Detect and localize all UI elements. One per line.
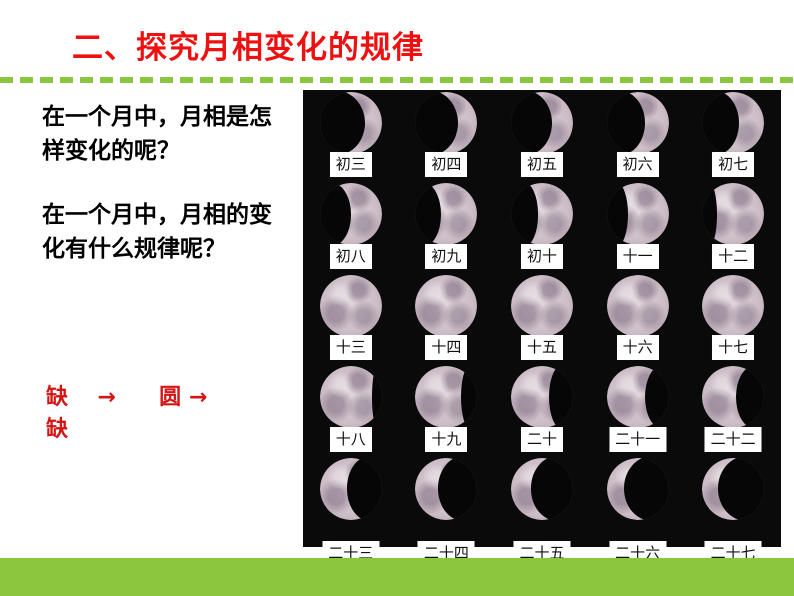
moon-image: [607, 275, 669, 337]
dashed-divider: [0, 77, 794, 83]
moon-phase-cell: 十六: [590, 273, 686, 364]
moon-phase-label: 十一: [617, 244, 659, 269]
moon-phase-label: 二十一: [609, 427, 666, 452]
moon-shadow: [624, 458, 669, 520]
moon-phase-label: 初九: [425, 244, 467, 269]
moon-image: [320, 92, 382, 154]
moon-phase-cell: 二十七: [685, 456, 781, 547]
moon-shadow: [718, 458, 764, 520]
moon-shadow: [511, 183, 538, 245]
moon-phase-label: 十四: [425, 335, 467, 360]
moon-image: [702, 366, 764, 428]
moon-phase-cell: 十八: [303, 364, 399, 455]
moon-phase-label: 十六: [617, 335, 659, 360]
moon-image: [607, 458, 669, 520]
question-1: 在一个月中，月相是怎样变化的呢？: [42, 100, 274, 168]
moon-phase-cell: 十二: [685, 181, 781, 272]
moon-phase-label: 十三: [330, 335, 372, 360]
moon-image: [702, 275, 764, 337]
moon-phase-label: 二十: [521, 427, 563, 452]
sequence-arrow-1-icon: →: [97, 385, 115, 410]
moon-phase-cell: 二十: [494, 364, 590, 455]
moon-image: [702, 183, 764, 245]
moon-image: [511, 458, 573, 520]
moon-phase-label: 十五: [521, 335, 563, 360]
moon-phase-cell: 初六: [590, 90, 686, 181]
moon-shadow: [702, 183, 717, 245]
moon-image: [415, 275, 477, 337]
moon-image: [320, 366, 382, 428]
moon-phase-label: 初四: [425, 152, 467, 177]
moon-phase-cell: 十九: [399, 364, 495, 455]
moon-phase-label: 二十二: [705, 427, 762, 452]
sequence-step-1: 缺: [46, 385, 68, 410]
moon-phase-label: 初十: [521, 244, 563, 269]
moon-shadow: [549, 366, 573, 428]
moon-image: [607, 366, 669, 428]
page-title: 二、探究月相变化的规律: [72, 27, 532, 69]
phase-sequence-annotation: 缺 → 圆 → 缺: [46, 382, 286, 446]
footer-band: [0, 558, 794, 596]
moon-image: [607, 183, 669, 245]
sequence-arrow-2-icon: →: [189, 385, 207, 410]
moon-shadow: [607, 183, 628, 245]
moon-phase-cell: 初七: [685, 90, 781, 181]
moon-image: [320, 458, 382, 520]
moon-phase-label: 十八: [330, 427, 372, 452]
question-2: 在一个月中，月相的变化有什么规律呢？: [42, 198, 274, 266]
moon-phase-cell: 初五: [494, 90, 590, 181]
moon-image: [511, 275, 573, 337]
moon-phase-grid: 初三初四初五初六初七初八初九初十十一十二十三十四十五十六十七十八十九二十二十一二…: [303, 90, 781, 547]
question-column: 在一个月中，月相是怎样变化的呢？ 在一个月中，月相的变化有什么规律呢？: [42, 100, 292, 296]
moon-shadow: [461, 366, 477, 428]
moon-phase-cell: 初三: [303, 90, 399, 181]
moon-phase-cell: 初四: [399, 90, 495, 181]
moon-shadow: [438, 458, 478, 520]
moon-image: [320, 183, 382, 245]
moon-image: [415, 366, 477, 428]
sequence-step-2: 圆: [159, 385, 181, 410]
moon-image: [415, 183, 477, 245]
moon-phase-cell: 十三: [303, 273, 399, 364]
moon-phase-label: 十九: [425, 427, 467, 452]
moon-phase-cell: 二十六: [590, 456, 686, 547]
moon-phase-cell: 初八: [303, 181, 399, 272]
moon-shadow: [736, 366, 765, 428]
moon-phase-label: 初三: [330, 152, 372, 177]
moon-image: [511, 183, 573, 245]
sequence-step-3: 缺: [46, 417, 68, 442]
moon-phase-label: 初六: [617, 152, 659, 177]
moon-phase-label: 初五: [521, 152, 563, 177]
moon-phase-cell: 二十三: [303, 456, 399, 547]
moon-phase-chart: 初三初四初五初六初七初八初九初十十一十二十三十四十五十六十七十八十九二十二十一二…: [303, 90, 781, 547]
moon-image: [511, 92, 573, 154]
moon-image: [607, 92, 669, 154]
moon-phase-cell: 十一: [590, 181, 686, 272]
moon-image: [702, 92, 764, 154]
moon-phase-cell: 十七: [685, 273, 781, 364]
moon-phase-cell: 二十五: [494, 456, 590, 547]
moon-phase-label: 十七: [712, 335, 754, 360]
moon-phase-label: 初八: [330, 244, 372, 269]
moon-image: [702, 458, 764, 520]
moon-phase-cell: 初十: [494, 181, 590, 272]
moon-phase-cell: 十四: [399, 273, 495, 364]
moon-image: [415, 458, 477, 520]
moon-phase-cell: 二十四: [399, 456, 495, 547]
moon-image: [415, 92, 477, 154]
moon-image: [511, 366, 573, 428]
moon-image: [320, 275, 382, 337]
moon-phase-cell: 二十一: [590, 364, 686, 455]
moon-phase-label: 十二: [712, 244, 754, 269]
slide-canvas: 二、探究月相变化的规律 在一个月中，月相是怎样变化的呢？ 在一个月中，月相的变化…: [0, 0, 794, 596]
moon-shadow: [372, 366, 382, 428]
moon-phase-cell: 二十二: [685, 364, 781, 455]
moon-phase-cell: 初九: [399, 181, 495, 272]
moon-phase-cell: 十五: [494, 273, 590, 364]
moon-phase-label: 初七: [712, 152, 754, 177]
